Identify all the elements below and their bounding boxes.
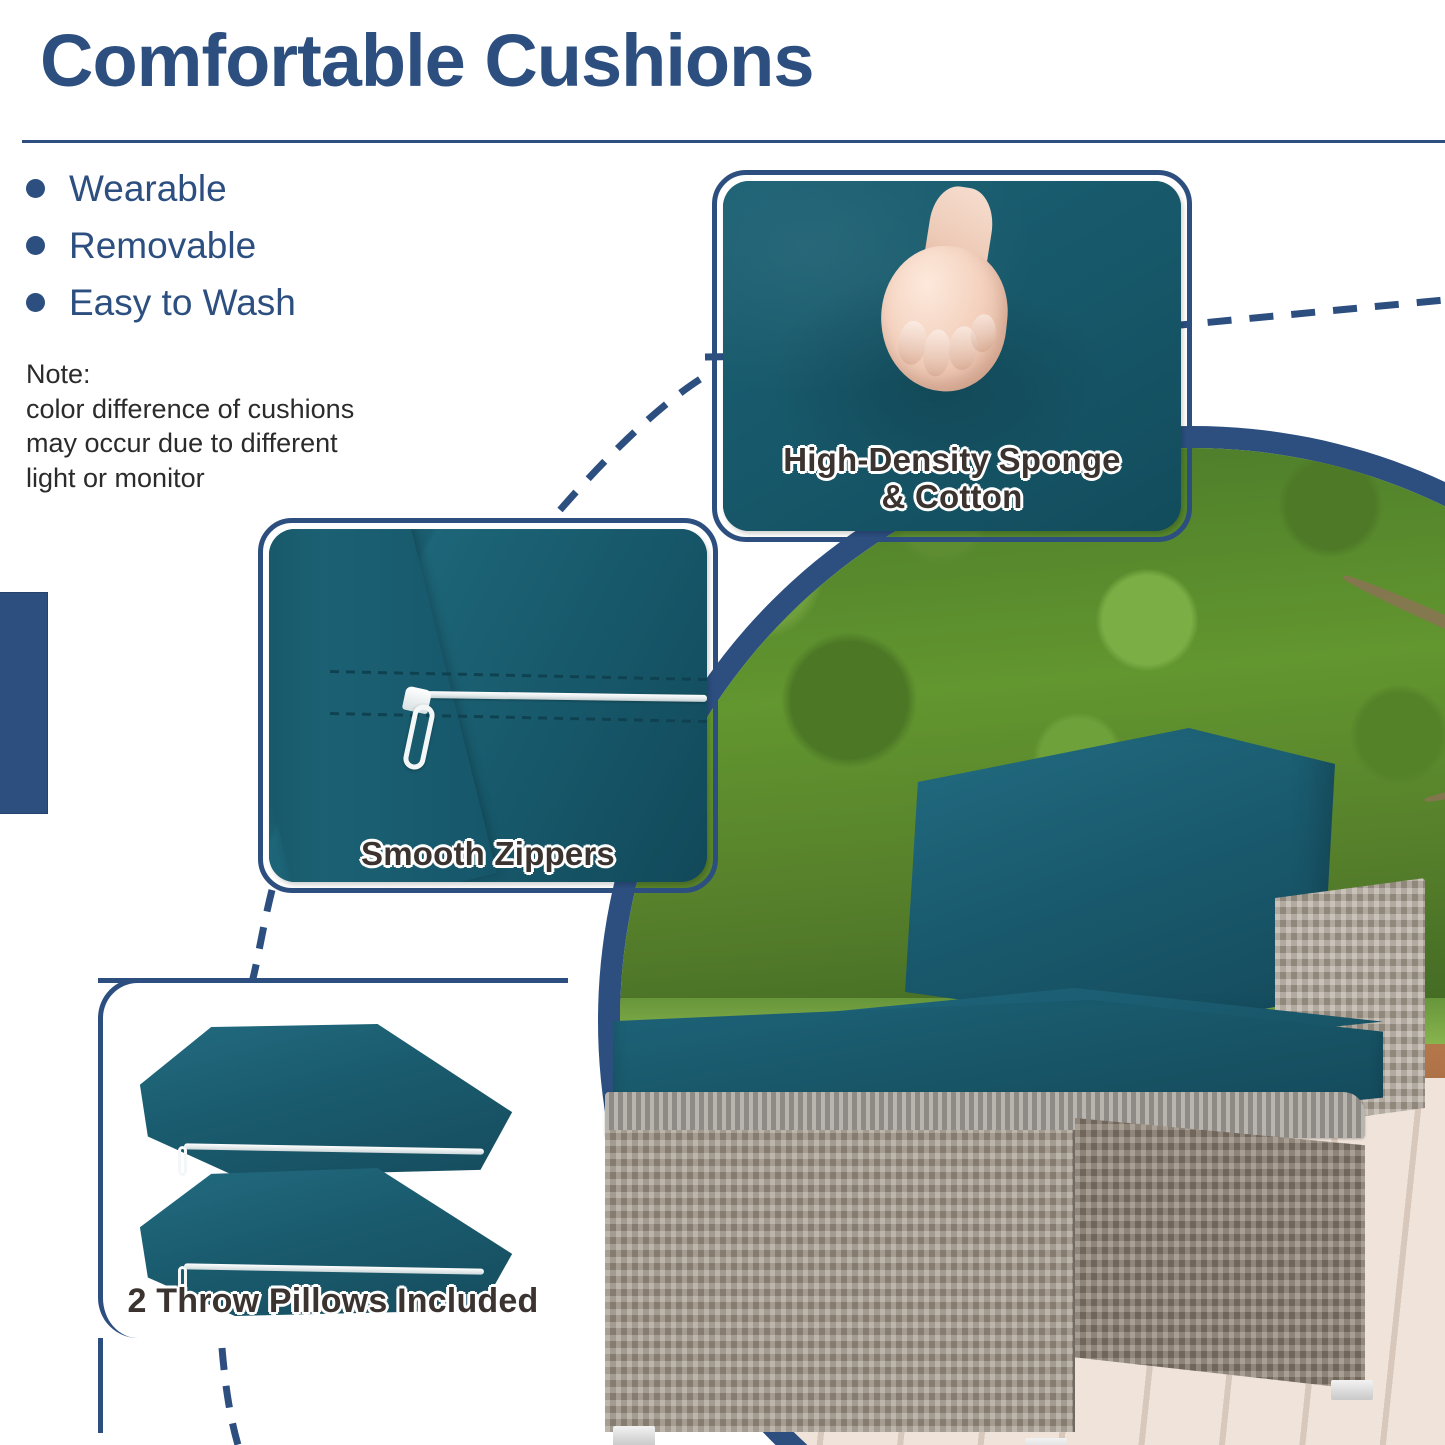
callout-caption: 2 Throw Pillows Included xyxy=(98,1282,568,1320)
pillow-zipper-pull xyxy=(178,1146,187,1176)
note-line: may occur due to different xyxy=(26,426,426,461)
callout-high-density-sponge[interactable]: High-Density Sponge & Cotton xyxy=(712,170,1192,542)
sofa-foot xyxy=(1025,1438,1067,1445)
list-item: Easy to Wash xyxy=(26,274,446,331)
callout-caption: Smooth Zippers xyxy=(258,836,718,873)
sofa-foot xyxy=(613,1426,655,1445)
sofa-foot xyxy=(1331,1380,1373,1400)
list-item: Wearable xyxy=(26,160,446,217)
left-edge-accent-tab xyxy=(0,592,48,814)
wicker-front-panel xyxy=(605,1130,1075,1432)
caption-line: High-Density Sponge xyxy=(712,442,1192,479)
bullet-label: Wearable xyxy=(69,170,227,207)
caption-line: & Cotton xyxy=(712,479,1192,516)
connector-pillows-to-product xyxy=(222,1348,238,1445)
note-line: light or monitor xyxy=(26,461,426,496)
bullet-dot-icon xyxy=(26,236,45,255)
note-line: Note: xyxy=(26,357,426,392)
title-divider xyxy=(22,139,1445,144)
bullet-dot-icon xyxy=(26,179,45,198)
wicker-side-panel xyxy=(1075,1118,1365,1390)
note-line: color difference of cushions xyxy=(26,392,426,427)
page-title: Comfortable Cushions xyxy=(40,22,813,100)
callout-caption: High-Density Sponge & Cotton xyxy=(712,442,1192,516)
feature-bullet-list: Wearable Removable Easy to Wash xyxy=(26,160,446,331)
bullet-dot-icon xyxy=(26,293,45,312)
callout-smooth-zippers[interactable]: Smooth Zippers xyxy=(258,518,718,893)
bullet-label: Removable xyxy=(69,227,256,264)
list-item: Removable xyxy=(26,217,446,274)
infographic-canvas: Comfortable Cushions Wearable Removable … xyxy=(0,0,1445,1445)
back-cushion xyxy=(905,728,1335,1028)
callout-throw-pillows[interactable]: 2 Throw Pillows Included xyxy=(98,978,568,1338)
color-disclaimer-note: Note: color difference of cushions may o… xyxy=(26,357,426,495)
connector-zipper-to-pillows xyxy=(252,890,272,982)
bullet-label: Easy to Wash xyxy=(69,284,296,321)
